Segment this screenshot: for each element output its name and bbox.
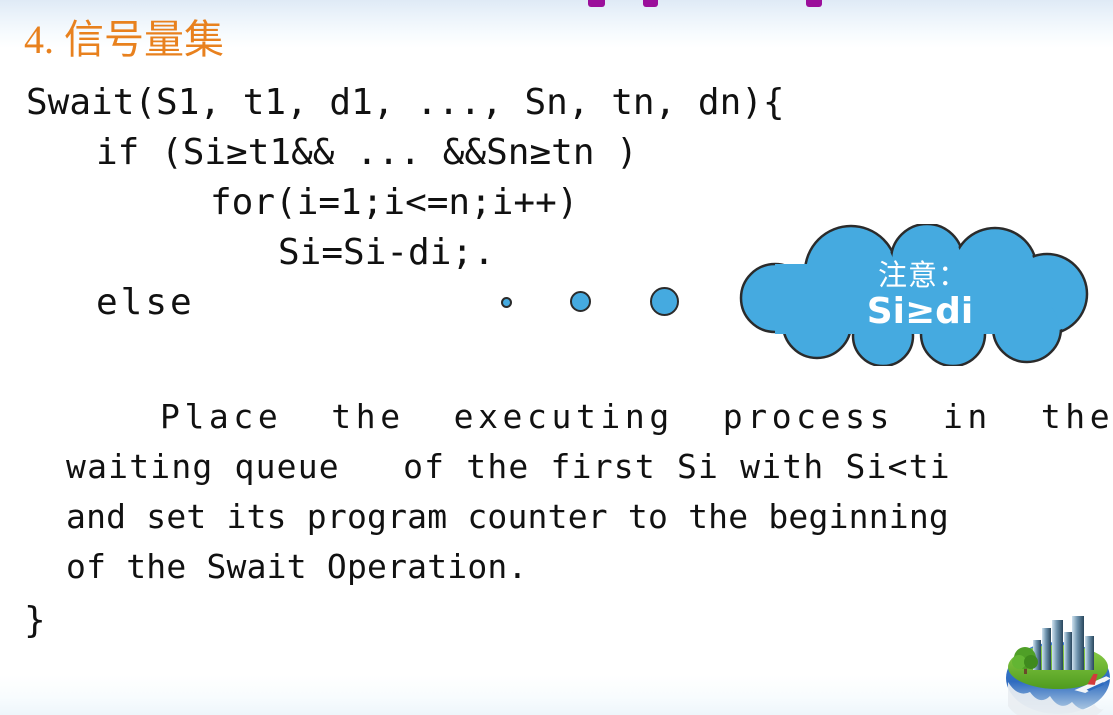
code-line-closing-brace: }	[0, 596, 46, 646]
code-line-if: if (Si≥t1&& ... &&Sn≥tn )	[0, 128, 1113, 178]
callout-bubble-large	[650, 287, 679, 316]
code-line-for: for(i=1;i<=n;i++)	[0, 178, 1113, 228]
green-earth-city-logo	[1000, 612, 1113, 715]
clipped-purple-text-fragment	[806, 0, 822, 7]
slide-canvas: 4. 信号量集 Swait(S1, t1, d1, ..., Sn, tn, d…	[0, 0, 1113, 715]
paragraph-line: of the Swait Operation.	[0, 542, 1113, 592]
code-line-signature: Swait(S1, t1, d1, ..., Sn, tn, dn){	[0, 78, 1113, 128]
paragraph-line: Place the executing process in the	[0, 392, 1113, 442]
clipped-purple-text-fragment	[588, 0, 605, 7]
paragraph-line: waiting queue of the first Si with Si<ti	[0, 442, 1113, 492]
clipped-purple-text-fragment	[643, 0, 658, 7]
else-body-paragraph: Place the executing process in the waiti…	[0, 392, 1113, 592]
cloud-callout: 注意： Si≥di	[731, 224, 1099, 366]
paragraph-line: and set its program counter to the begin…	[0, 492, 1113, 542]
callout-bubble-medium	[570, 291, 591, 312]
background-bottom-gradient	[0, 675, 1113, 715]
cloud-shape-icon	[741, 224, 1087, 366]
callout-bubble-small	[501, 297, 512, 308]
page-title: 4. 信号量集	[24, 16, 224, 64]
